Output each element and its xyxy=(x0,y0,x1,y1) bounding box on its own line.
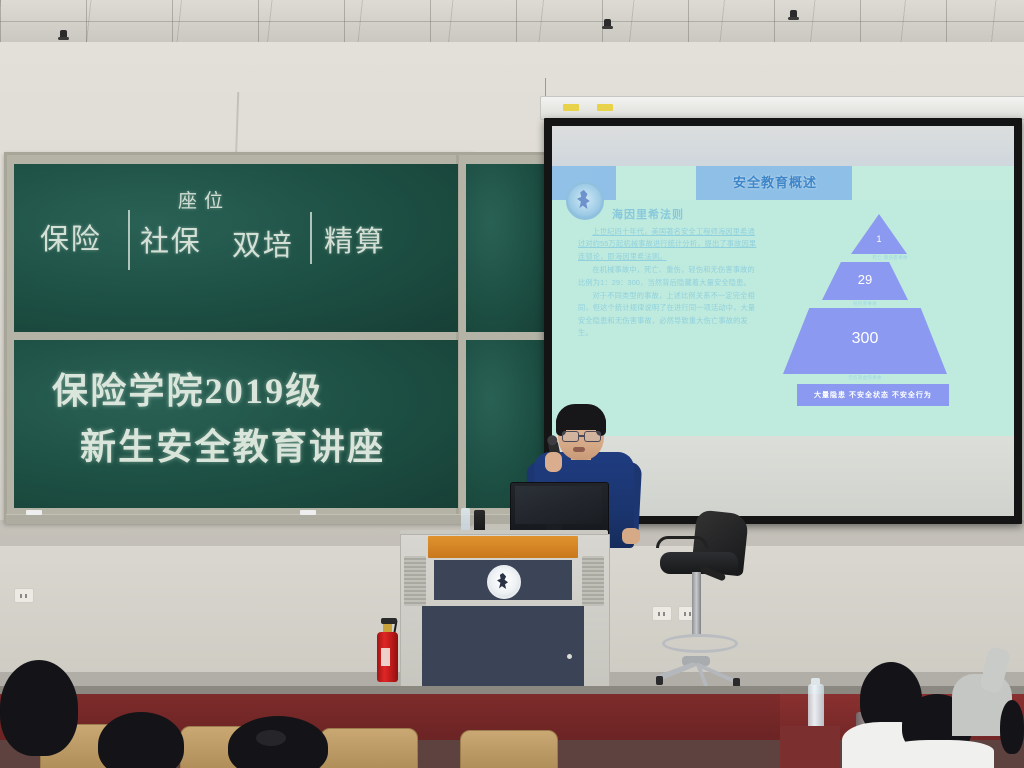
chair-seat[interactable] xyxy=(660,552,738,574)
presenter-hand-left xyxy=(545,452,562,472)
roller-warning-label xyxy=(597,104,613,111)
audience-chair-back[interactable] xyxy=(460,730,558,768)
chair-gas-cylinder xyxy=(692,572,701,636)
chalk-piece xyxy=(300,510,316,515)
audience-head xyxy=(1000,700,1024,754)
chalk-piece xyxy=(26,510,42,515)
screen-top-band xyxy=(552,126,1014,166)
slide-header-title: 安全教育概述 xyxy=(700,172,850,191)
chair-footring xyxy=(662,634,738,653)
slide-header-notch xyxy=(616,166,696,200)
ceiling-sprinkler-icon xyxy=(790,10,797,20)
pyramid-caption-bottom: 无伤害虚惊事故 xyxy=(783,375,947,381)
blackboard-seminar-line1: 保险学院2019级 xyxy=(52,362,323,414)
bottle-cap xyxy=(811,678,820,685)
ceiling-sprinkler-icon xyxy=(604,19,611,29)
pyramid-caption-middle: 轻伤害事故 xyxy=(822,301,908,307)
ceiling-sprinkler-icon xyxy=(60,30,67,40)
slide-paragraph-2: 在机械事故中，死亡、重伤，轻伤和无伤害事故的比例为1：29：300，当然背后隐藏… xyxy=(578,264,758,289)
slide-section-title: 海因里希法则 xyxy=(612,206,684,222)
pyramid-value-middle: 29 xyxy=(822,272,908,287)
screen-hanger-wire xyxy=(545,78,546,98)
blackboard-divider-1 xyxy=(128,210,130,270)
glasses-bridge-icon xyxy=(578,435,584,437)
blackboard-panel-side-upper xyxy=(466,164,548,332)
university-emblem-icon xyxy=(566,182,604,220)
power-outlet-icon[interactable] xyxy=(14,588,34,603)
monitor-screen[interactable] xyxy=(515,486,602,524)
blackboard-column-insurance: 保险 xyxy=(40,216,101,258)
blackboard-column-dual-training: 双培 xyxy=(232,222,293,264)
ceiling-grid-lines xyxy=(0,0,1024,44)
blackboard-column-social-security: 社保 xyxy=(140,218,201,260)
audience-chair-back[interactable] xyxy=(320,728,418,768)
slide-header-notch-right xyxy=(852,166,1014,200)
podium-speaker-grille-right xyxy=(582,556,604,606)
blackboard-divider-2 xyxy=(310,212,312,264)
fire-extinguisher-label xyxy=(381,648,390,666)
podium-power-button[interactable] xyxy=(567,654,572,659)
blackboard-seating-title: 座 位 xyxy=(178,186,224,213)
presenter-hand-right xyxy=(622,528,640,544)
podium-speaker-grille-left xyxy=(404,556,426,606)
blackboard-seminar-line2: 新生安全教育讲座 xyxy=(80,418,385,470)
presenter-mouth xyxy=(573,447,585,452)
audience-shirt-white xyxy=(884,740,994,768)
blackboard-column-actuarial: 精算 xyxy=(324,218,385,260)
chair-caster xyxy=(656,676,663,685)
audience-head-highlight xyxy=(256,730,286,746)
podium-wood-trim xyxy=(428,536,578,558)
power-outlet-icon[interactable] xyxy=(652,606,672,621)
slide-paragraph-3: 对于不同类型的事故，上述比例关系不一定完全相同，但这个统计规律说明了在进行同一项… xyxy=(578,290,758,340)
glasses-lens-left-icon xyxy=(562,431,579,442)
chair-armrest[interactable] xyxy=(656,536,708,548)
pyramid-caption-top: 死亡·重伤害事故 xyxy=(835,255,945,261)
glasses-lens-right-icon xyxy=(584,431,601,442)
pyramid-value-bottom: 300 xyxy=(783,330,947,348)
pyramid-value-top: 1 xyxy=(851,234,907,244)
front-desk-left xyxy=(780,726,840,768)
slide-body-text: 上世纪四十年代，美国著名安全工程师海因里希通过对约55万起机械事故进行统计分析，… xyxy=(578,226,758,340)
audience-head xyxy=(0,660,78,756)
slide-paragraph-1: 上世纪四十年代，美国著名安全工程师海因里希通过对约55万起机械事故进行统计分析，… xyxy=(578,227,756,261)
university-emblem-icon xyxy=(487,565,521,599)
pyramid-base-label: 大量隐患 不安全状态 不安全行为 xyxy=(797,390,949,400)
roller-warning-label xyxy=(563,104,579,111)
lecture-hall-photo: 座 位 保险 社保 双培 精算 保险学院2019级 新生安全教育讲座 安全教育概… xyxy=(0,0,1024,768)
